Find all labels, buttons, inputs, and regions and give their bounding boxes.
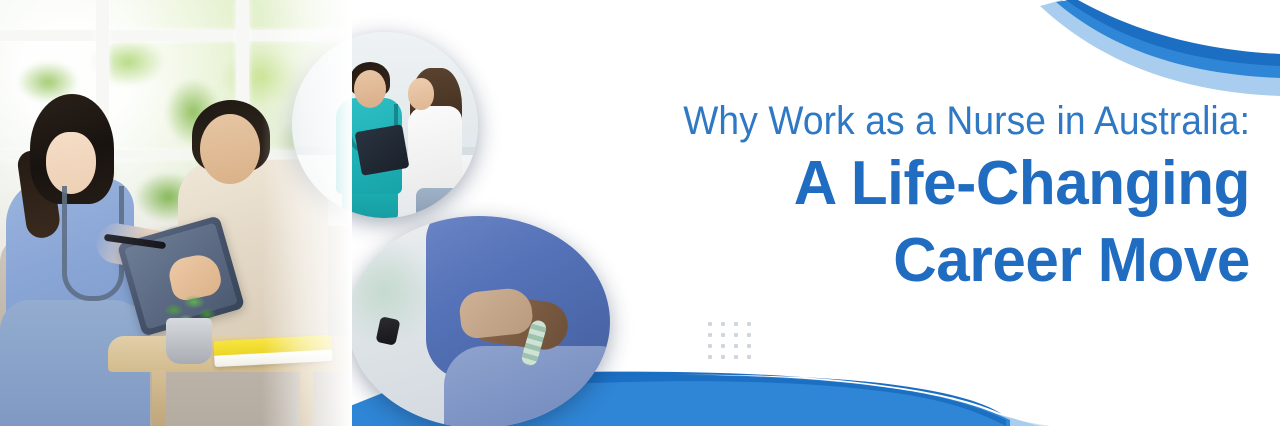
dot-grid-decoration [708, 322, 760, 366]
headline-line-2: A Life-Changing [493, 146, 1250, 222]
dot [747, 355, 751, 359]
dot [747, 322, 751, 326]
hero-banner: Why Work as a Nurse in Australia: A Life… [0, 0, 1280, 426]
dot [747, 344, 751, 348]
inset-top-nurse-head [354, 70, 386, 108]
dot [721, 333, 725, 337]
elderly-patient-head [200, 114, 260, 184]
inset-top-patient-face [408, 78, 434, 110]
inset-top-patient-body [408, 106, 462, 198]
dot [721, 322, 725, 326]
dot [708, 344, 712, 348]
dot [708, 355, 712, 359]
headline-block: Why Work as a Nurse in Australia: A Life… [470, 96, 1250, 300]
inset-top-patient-jeans [416, 188, 472, 218]
nurse-face [46, 132, 96, 194]
inset-top-clipboard [355, 124, 410, 176]
dot [734, 344, 738, 348]
dot [734, 322, 738, 326]
dot [708, 322, 712, 326]
dot [721, 355, 725, 359]
dot [721, 344, 725, 348]
dot [747, 333, 751, 337]
plant-pot [166, 318, 212, 364]
dot [734, 355, 738, 359]
nurse-consulting-elderly-patient-photo [0, 0, 352, 426]
coffee-table-leg [152, 370, 166, 426]
photo-fade-edge [262, 0, 352, 426]
headline-line-1: Why Work as a Nurse in Australia: [525, 96, 1250, 146]
dot [708, 333, 712, 337]
headline-line-3: Career Move [493, 222, 1250, 300]
dot [734, 333, 738, 337]
